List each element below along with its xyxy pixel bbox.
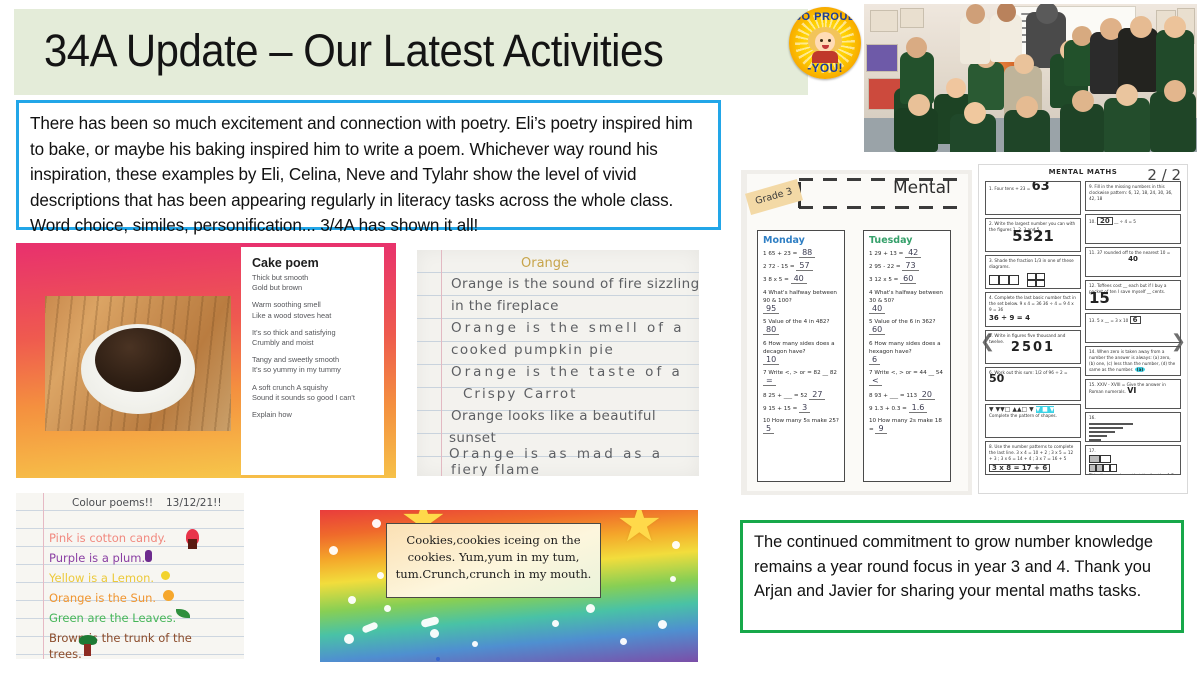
plum-doodle — [145, 550, 152, 562]
colour-poems-date: 13/12/21!! — [166, 497, 222, 509]
mental-maths-left-column: 1. Four tens + 23 = 63 2. Write the larg… — [985, 181, 1081, 475]
tuesday-column: Tuesday 1 29 + 13 = 42 2 95 - 22 = 73 3 … — [863, 230, 951, 482]
maths-comment-text: The continued commitment to grow number … — [754, 530, 1171, 604]
mm-q11: 11. 37 rounded off to the nearest 10 = 4… — [1085, 247, 1181, 277]
monday-q9: 9 15 + 15 = 3 — [763, 404, 839, 413]
tuesday-q10: 10 How many 2s make 18 = 9 — [869, 417, 945, 434]
cookies-poem-card: ★ ★ Cookies,cookies iceing on the cookie… — [320, 510, 698, 662]
orange-poem-line-2: in the fireplace — [451, 298, 559, 314]
mental-maths-worksheet-page: MENTAL MATHS 2 / 2 ❮ ❯ 1. Four tens + 23… — [978, 164, 1188, 494]
mm-q17: 17. This diagram shows that the fraction… — [1085, 445, 1181, 475]
orange-poem-line-7: Orange looks like a beautiful — [451, 408, 656, 424]
sticker-bottom-label: -YOU! — [789, 61, 861, 75]
orange-poem-title: Orange — [521, 256, 569, 271]
monday-q3: 3 8 x 5 = 40 — [763, 275, 839, 284]
mental-maths-worksheet-monday-tuesday: Grade 3 Mental Monday 1 65 + 23 = 88 2 7… — [741, 170, 972, 495]
maths-comment-box: The continued commitment to grow number … — [740, 520, 1184, 633]
intro-text-box: There has been so much excitement and co… — [16, 100, 721, 230]
cake-poem-stanza-5: A soft crunch A squishy Sound it sounds … — [252, 383, 376, 403]
monday-q10: 10 How many 5s make 25? 5 — [763, 417, 839, 434]
page-title: 34A Update – Our Latest Activities — [44, 25, 663, 77]
cake-poem-stanza-2: Warm soothing smell Like a wood stoves h… — [252, 300, 376, 320]
tuesday-q5: 5 Value of the 6 in 362? 60 — [869, 318, 945, 335]
intro-text: There has been so much excitement and co… — [30, 111, 708, 239]
mm-q3: 3. Shade the fraction 1/3 in one of thes… — [985, 255, 1081, 289]
mm-q2: 2. Write the largest number you can with… — [985, 218, 1081, 252]
mental-maths-right-column: 9. Fill in the missing numbers in this c… — [1085, 181, 1181, 475]
sun-doodle — [163, 590, 174, 601]
colour-poem-line-2: Purple is a plum. — [49, 551, 145, 565]
mm-q10: 10. 20 __ ÷ 4 = 5 — [1085, 214, 1181, 244]
orange-poem-line-9: Orange is as mad as a — [449, 446, 663, 462]
lemon-doodle — [161, 571, 170, 580]
colour-poem-line-3: Yellow is a Lemon. — [49, 571, 154, 585]
colour-poem-line-6: Brown is the trunk of the — [49, 631, 192, 645]
mm-q14: 14. When zero is taken away from a numbe… — [1085, 346, 1181, 376]
cake-poem-title: Cake poem — [252, 256, 376, 270]
so-proud-of-you-sticker: SO PROUD -YOU! — [789, 7, 861, 79]
mm-q1: 1. Four tens + 23 = 63 — [985, 181, 1081, 215]
cake-poem-stanza-1: Thick but smooth Gold but brown — [252, 273, 376, 293]
cake-poem-panel: Cake poem Thick but smooth Gold but brow… — [241, 243, 396, 478]
orange-poem-line-5: Orange is the taste of a — [451, 364, 683, 380]
mm-q6: 6. Work out this sum: 1/2 of 96 ÷ 2 = 50 — [985, 367, 1081, 401]
orange-poem-line-4: cooked pumpkin pie — [451, 342, 614, 358]
slide-canvas: 34A Update – Our Latest Activities SO PR… — [0, 0, 1200, 675]
monday-q7: 7 Write <, > or = 82 __ 82 = — [763, 369, 839, 386]
mm-q12: 12. Toffees cost __ each but if I buy a … — [1085, 280, 1181, 310]
mm-q4: 4. Complete the last basic number fact i… — [985, 292, 1081, 326]
orange-poem-line-8: sunset — [449, 430, 496, 446]
orange-poem-line-3: Orange is the smell of a — [451, 320, 685, 336]
colour-poem-line-5: Green are the Leaves. — [49, 611, 176, 625]
cake-poem-card: Cake poem Thick but smooth Gold but brow… — [16, 243, 396, 478]
colour-poem-line-1: Pink is cotton candy. — [49, 531, 166, 545]
monday-label: Monday — [763, 235, 839, 246]
class-group-photo — [864, 4, 1197, 152]
header-band: 34A Update – Our Latest Activities — [14, 9, 808, 95]
tuesday-q6: 6 How many sides does a hexagon have?6 — [869, 340, 945, 366]
colour-poem-line-4: Orange is the Sun. — [49, 591, 156, 605]
cake-poem-stanza-3: It's so thick and satisfying Crumbly and… — [252, 328, 376, 348]
tuesday-q7: 7 Write <, > or = 44 __ 54 < — [869, 369, 945, 386]
tuesday-q3: 3 12 x 5 = 60 — [869, 275, 945, 284]
orange-poem-photo: Orange Orange is the sound of fire sizzl… — [417, 250, 699, 476]
cake-poem-stanza-4: Tangy and sweetly smooth It's so yummy i… — [252, 355, 376, 375]
tuesday-q4: 4 What's halfway between 30 & 50?40 — [869, 289, 945, 315]
cookies-poem-text: Cookies,cookies iceing on the cookies. Y… — [394, 532, 593, 583]
tuesday-q8: 8 93 + ___ = 113 20 — [869, 391, 945, 400]
mm-q8: 8. Use the number patterns to complete t… — [985, 441, 1081, 475]
mm-q15: 15. XXIV - XVIII = Give the answer in Ro… — [1085, 379, 1181, 409]
monday-column: Monday 1 65 + 23 = 88 2 72 - 15 = 57 3 8… — [757, 230, 845, 482]
worksheet-title: Mental — [893, 178, 951, 198]
orange-poem-line-1: Orange is the sound of fire sizzling — [451, 276, 699, 292]
monday-q4: 4 What's halfway between 90 & 100?95 — [763, 289, 839, 315]
monday-q8: 8 25 + ___ = 52 27 — [763, 391, 839, 400]
monday-q1: 1 65 + 23 = 88 — [763, 249, 839, 258]
orange-poem-line-6: Crispy Carrot — [463, 386, 577, 402]
tuesday-q1: 1 29 + 13 = 42 — [869, 249, 945, 258]
tuesday-q9: 9 1.3 + 0.3 = 1.6 — [869, 404, 945, 413]
sticker-face-icon — [808, 27, 842, 61]
sticker-top-label: SO PROUD — [789, 11, 861, 23]
orange-poem-line-10: fiery flame — [451, 462, 540, 476]
colour-poems-heading: Colour poems!! — [72, 497, 153, 509]
colour-poem-line-7: trees. — [49, 647, 82, 659]
mm-q13: 13. 5 x __ = 3 x 10 6 — [1085, 313, 1181, 343]
tuesday-label: Tuesday — [869, 235, 945, 246]
mm-q7: ▼ ▼▼□ ▲▲□ ▼ ▼ ■ ▼ Complete the pattern o… — [985, 404, 1081, 438]
cake — [95, 328, 181, 392]
chocolate-cake-photo — [45, 296, 231, 431]
cookies-poem-textbox: Cookies,cookies iceing on the cookies. Y… — [386, 523, 601, 598]
cake-poem-stanza-6: Explain how — [252, 410, 376, 420]
monday-q2: 2 72 - 15 = 57 — [763, 262, 839, 271]
mm-q5: 5. Write in figures five thousand and tw… — [985, 330, 1081, 364]
tuesday-q2: 2 95 - 22 = 73 — [869, 262, 945, 271]
monday-q5: 5 Value of the 4 in 482? 80 — [763, 318, 839, 335]
mm-q16: 16. Tom has __ times as many marbles as … — [1085, 412, 1181, 442]
mm-q9: 9. Fill in the missing numbers in this c… — [1085, 181, 1181, 211]
colour-poems-photo: Colour poems!! 13/12/21!! Pink is cotton… — [16, 493, 244, 659]
monday-q6: 6 How many sides does a decagon have?10 — [763, 340, 839, 366]
star-icon: ★ — [616, 510, 663, 550]
